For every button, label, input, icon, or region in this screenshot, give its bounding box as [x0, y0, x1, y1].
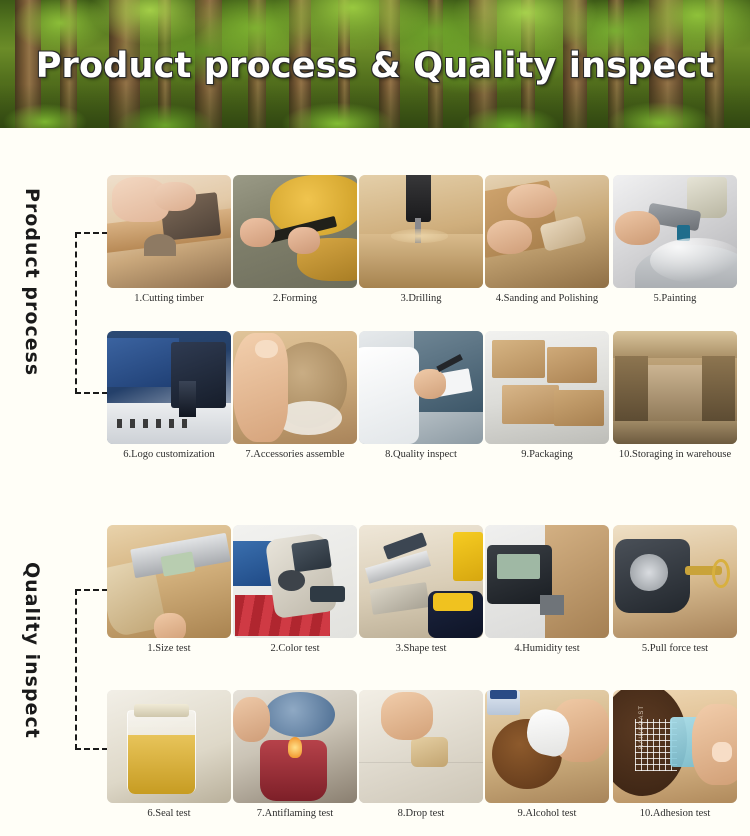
grid-cell: 3.Shape test	[359, 525, 483, 660]
alcohol-wipe-disc-photo	[485, 690, 609, 803]
pull-force-gauge-photo	[613, 525, 737, 638]
burning-candle-photo	[233, 690, 357, 803]
process-caption: 1.Cutting timber	[107, 292, 231, 305]
process-caption: 3.Drilling	[359, 292, 483, 305]
colorimeter-swatches-photo	[233, 525, 357, 638]
process-tile-quality-inspect[interactable]	[359, 331, 483, 444]
quality-tile-adhesion-test[interactable]: RAINCOAST	[613, 690, 737, 803]
grid-cell: 2.Forming	[233, 175, 357, 310]
spray-painting-photo	[613, 175, 737, 288]
grid-cell: 9.Alcohol test	[485, 690, 609, 825]
process-caption: 7.Accessories assemble	[233, 448, 357, 461]
quality-tile-seal-test[interactable]	[107, 690, 231, 803]
grid-cell: 8.Drop test	[359, 690, 483, 825]
process-tile-storaging-warehouse[interactable]	[613, 331, 737, 444]
grid-cell: 7.Antiflaming test	[233, 690, 357, 825]
grid-cell: 3.Drilling	[359, 175, 483, 310]
process-tile-packaging[interactable]	[485, 331, 609, 444]
digital-caliper-photo	[107, 525, 231, 638]
quality-caption: 1.Size test	[107, 642, 231, 655]
laser-logo-engraving-photo	[107, 331, 231, 444]
quality-caption: 5.Pull force test	[611, 642, 739, 655]
process-tile-cutting-timber[interactable]	[107, 175, 231, 288]
quality-caption: 6.Seal test	[107, 807, 231, 820]
process-tile-sanding-polishing[interactable]	[485, 175, 609, 288]
cardboard-boxes-photo	[485, 331, 609, 444]
process-caption: 9.Packaging	[485, 448, 609, 461]
grid-cell: 2.Color test	[233, 525, 357, 660]
quality-caption: 7.Antiflaming test	[233, 807, 357, 820]
section-quality-inspect: Quality inspect 1.Size test 2.Color test	[0, 478, 750, 836]
grid-cell: 1.Cutting timber	[107, 175, 231, 310]
tile-row-product-1: 1.Cutting timber 2.Forming 3.Drilling	[107, 175, 741, 310]
hand-holding-disc-photo	[233, 331, 357, 444]
section-bracket-quality-inspect	[75, 589, 108, 750]
process-caption: 2.Forming	[233, 292, 357, 305]
grid-cell: 10.Storaging in warehouse	[613, 331, 737, 466]
grid-cell: 9.Packaging	[485, 331, 609, 466]
quality-caption: 8.Drop test	[359, 807, 483, 820]
warehouse-aisle-photo	[613, 331, 737, 444]
inspector-clipboard-photo	[359, 331, 483, 444]
sanding-polishing-photo	[485, 175, 609, 288]
wood-forming-lathe-photo	[233, 175, 357, 288]
sealed-jar-liquid-photo	[107, 690, 231, 803]
process-caption: 4.Sanding and Polishing	[485, 292, 609, 305]
quality-tile-shape-test[interactable]	[359, 525, 483, 638]
process-tile-logo-customization[interactable]	[107, 331, 231, 444]
page-title: Product process & Quality inspect	[0, 46, 750, 86]
process-caption: 8.Quality inspect	[359, 448, 483, 461]
tile-row-quality-2: 6.Seal test 7.Antiflaming test 8.Drop te…	[107, 690, 741, 825]
page-banner: Product process & Quality inspect	[0, 0, 750, 128]
process-tile-painting[interactable]	[613, 175, 737, 288]
drop-test-photo	[359, 690, 483, 803]
quality-tile-alcohol-test[interactable]	[485, 690, 609, 803]
quality-tile-pull-force-test[interactable]	[613, 525, 737, 638]
tile-row-quality-1: 1.Size test 2.Color test 3.Shape test	[107, 525, 741, 660]
section-label-product-process: Product process	[0, 175, 64, 390]
grid-cell: 5.Painting	[613, 175, 737, 310]
product-brand-text: RAINCOAST	[639, 705, 645, 749]
tile-row-product-2: 6.Logo customization 7.Accessories assem…	[107, 331, 741, 466]
quality-tile-antiflaming-test[interactable]	[233, 690, 357, 803]
grid-cell: RAINCOAST 10.Adhesion test	[613, 690, 737, 825]
quality-tile-color-test[interactable]	[233, 525, 357, 638]
grid-cell: 6.Logo customization	[107, 331, 231, 466]
section-bracket-product-process	[75, 232, 108, 394]
quality-caption: 4.Humidity test	[485, 642, 609, 655]
quality-caption: 10.Adhesion test	[611, 807, 739, 820]
quality-caption: 9.Alcohol test	[485, 807, 609, 820]
process-caption: 10.Storaging in warehouse	[611, 448, 739, 461]
process-caption: 5.Painting	[611, 292, 739, 305]
moisture-meter-photo	[485, 525, 609, 638]
grid-cell: 8.Quality inspect	[359, 331, 483, 466]
process-tile-drilling[interactable]	[359, 175, 483, 288]
process-caption: 6.Logo customization	[107, 448, 231, 461]
quality-caption: 3.Shape test	[359, 642, 483, 655]
grid-cell: 4.Sanding and Polishing	[485, 175, 609, 310]
process-tile-forming[interactable]	[233, 175, 357, 288]
tape-adhesion-crosshatch-photo: RAINCOAST	[613, 690, 737, 803]
quality-caption: 2.Color test	[233, 642, 357, 655]
process-tile-accessories-assemble[interactable]	[233, 331, 357, 444]
grid-cell: 6.Seal test	[107, 690, 231, 825]
section-product-process: Product process 1.Cutting timber 2.Formi…	[0, 128, 750, 473]
section-label-quality-inspect: Quality inspect	[0, 543, 64, 758]
drilling-machine-photo	[359, 175, 483, 288]
quality-tile-drop-test[interactable]	[359, 690, 483, 803]
grid-cell: 4.Humidity test	[485, 525, 609, 660]
quality-tile-size-test[interactable]	[107, 525, 231, 638]
grid-cell: 1.Size test	[107, 525, 231, 660]
cutting-timber-photo	[107, 175, 231, 288]
quality-tile-humidity-test[interactable]	[485, 525, 609, 638]
workbench-tools-photo	[359, 525, 483, 638]
grid-cell: 7.Accessories assemble	[233, 331, 357, 466]
grid-cell: 5.Pull force test	[613, 525, 737, 660]
